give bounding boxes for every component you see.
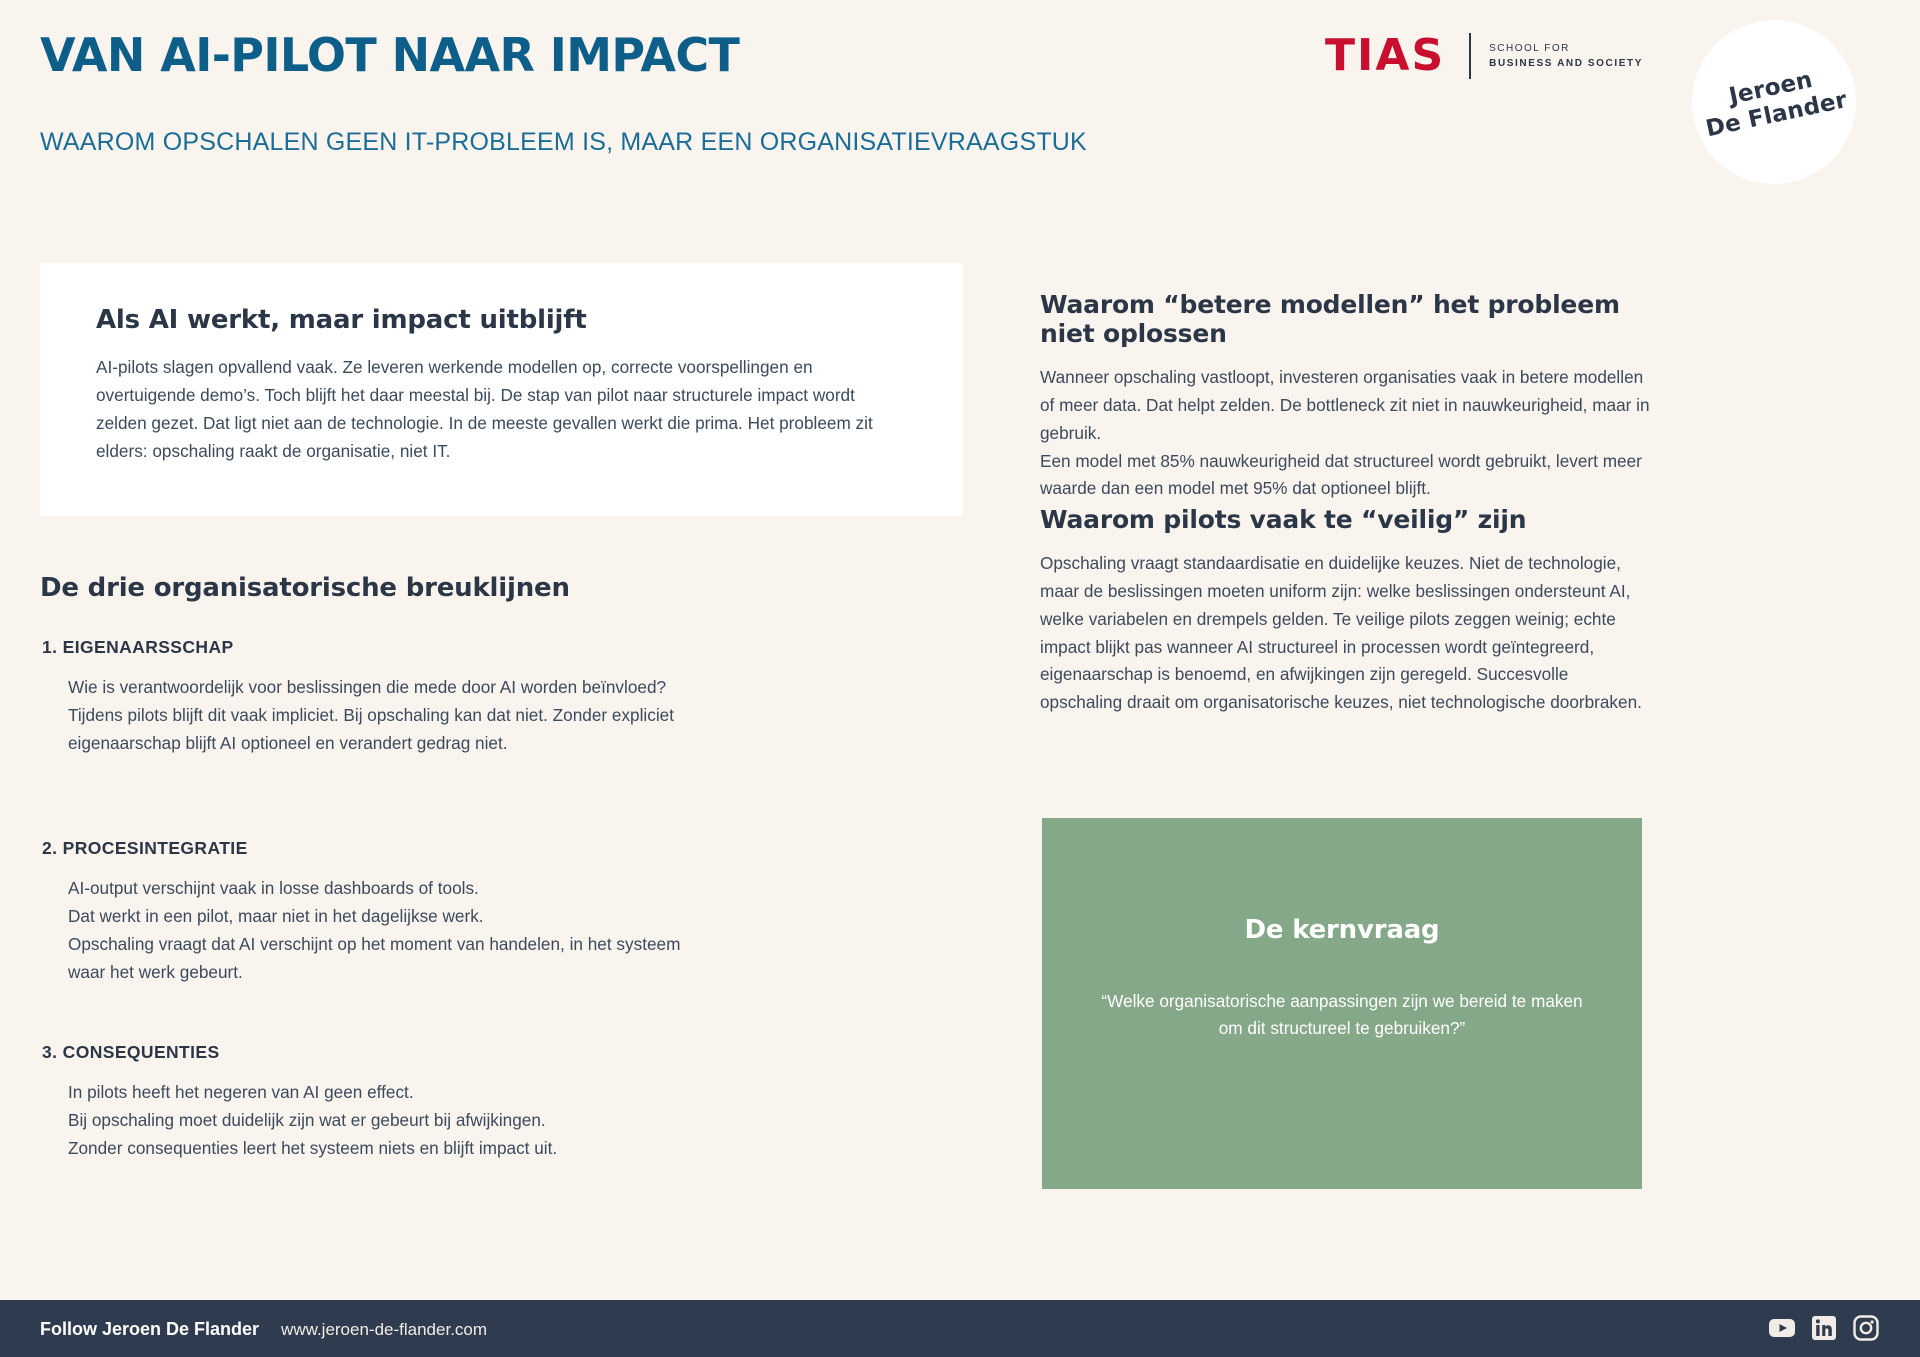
section-body: Wanneer opschaling vastloopt, investeren… [1040,364,1650,503]
instagram-icon[interactable] [1852,1314,1880,1342]
tias-tagline-line1: SCHOOL FOR [1489,41,1643,57]
author-badge: Jeroen De Flander [1692,20,1856,184]
tias-tagline-line2: BUSINESS AND SOCIETY [1489,56,1643,72]
poster-root: VAN AI-PILOT NAAR IMPACT WAAROM OPSCHALE… [0,0,1920,1357]
page-title: VAN AI-PILOT NAAR IMPACT [40,28,739,82]
item-title: 1. EIGENAARSSCHAP [42,637,682,658]
author-badge-text: Jeroen De Flander [1698,61,1850,144]
right-section-safe-pilots: Waarom pilots vaak te “veilig” zijn Opsc… [1040,505,1650,717]
item-body: In pilots heeft het negeren van AI geen … [68,1079,682,1163]
footer-left-group: Follow Jeroen De Flander www.jeroen-de-f… [40,1319,487,1340]
logo-divider [1469,33,1471,79]
footer: Follow Jeroen De Flander www.jeroen-de-f… [0,1300,1920,1357]
breuklijnen-heading: De drie organisatorische breuklijnen [40,573,570,603]
page-subtitle: WAAROM OPSCHALEN GEEN IT-PROBLEEM IS, MA… [40,128,1087,157]
tias-tagline: SCHOOL FOR BUSINESS AND SOCIETY [1489,41,1643,72]
footer-website-link[interactable]: www.jeroen-de-flander.com [281,1320,487,1340]
kernvraag-quote: “Welke organisatorische aanpassingen zij… [1094,988,1590,1041]
social-links [1768,1314,1880,1342]
section-body: Opschaling vraagt standaardisatie en dui… [1040,550,1650,717]
list-item: 2. PROCESINTEGRATIE AI-output verschijnt… [42,838,682,986]
section-heading: Waarom pilots vaak te “veilig” zijn [1040,505,1650,534]
youtube-icon[interactable] [1768,1314,1796,1342]
tias-wordmark: TIAS [1325,34,1445,78]
item-body: AI-output verschijnt vaak in losse dashb… [68,875,682,986]
intro-card-title: Als AI werkt, maar impact uitblijft [96,305,587,335]
footer-follow-label: Follow Jeroen De Flander [40,1319,259,1340]
list-item: 1. EIGENAARSSCHAP Wie is verantwoordelij… [42,637,682,758]
item-body: Wie is verantwoordelijk voor beslissinge… [68,674,682,758]
kernvraag-highlight-box: De kernvraag “Welke organisatorische aan… [1042,818,1642,1189]
kernvraag-title: De kernvraag [1042,915,1642,945]
list-item: 3. CONSEQUENTIES In pilots heeft het neg… [42,1042,682,1163]
item-title: 3. CONSEQUENTIES [42,1042,682,1063]
section-heading: Waarom “betere modellen” het probleem ni… [1040,290,1650,348]
tias-logo: TIAS SCHOOL FOR BUSINESS AND SOCIETY [1325,30,1643,82]
linkedin-icon[interactable] [1810,1314,1838,1342]
header: VAN AI-PILOT NAAR IMPACT WAAROM OPSCHALE… [0,0,1920,200]
intro-card: Als AI werkt, maar impact uitblijft AI-p… [40,263,963,516]
intro-card-body: AI-pilots slagen opvallend vaak. Ze leve… [96,353,896,465]
right-section-models: Waarom “betere modellen” het probleem ni… [1040,290,1650,503]
item-title: 2. PROCESINTEGRATIE [42,838,682,859]
